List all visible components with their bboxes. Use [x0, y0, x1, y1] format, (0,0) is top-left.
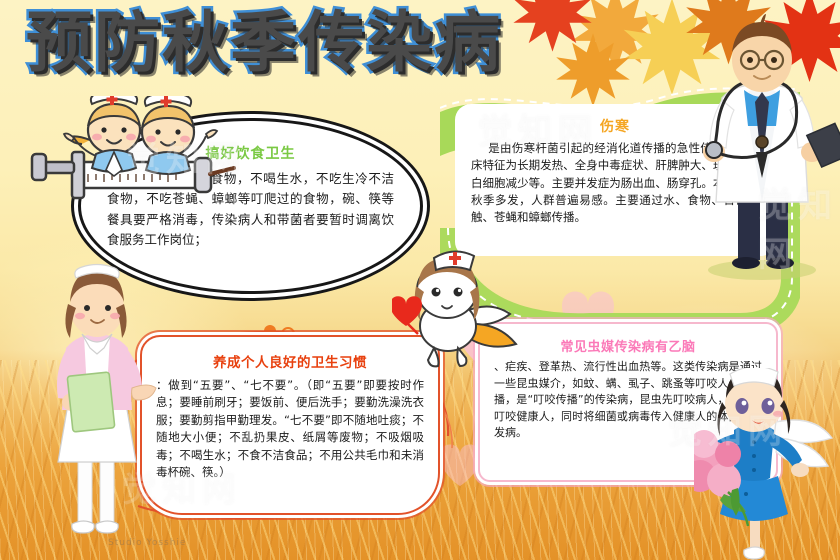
- section-title-vector-borne: 常见虫媒传染病有乙脑: [494, 336, 762, 355]
- angel-nurse-heart-illustration: [392, 250, 524, 376]
- section-title-personal-habits: 养成个人良好的卫生习惯: [156, 351, 424, 371]
- poster-canvas: 预防秋季传染病 搞好饮食卫生 不吃腐败变质食物，不喝生水，不吃生冷不洁食物，不吃…: [0, 0, 840, 560]
- poster-title-wrap: 预防秋季传染病: [26, 8, 502, 77]
- doctor-stethoscope-illustration: [682, 12, 840, 282]
- maple-leaf-icon: [548, 30, 638, 110]
- girl-flowers-wings-illustration: [694, 368, 840, 560]
- page-title: 预防秋季传染病: [26, 8, 502, 77]
- nurse-kids-syringe-illustration: [28, 96, 238, 236]
- section-body-personal-habits: ：做到“五要”、“七不要”。（即“五要”即要按时作息；要睡前刷牙；要饭前、便后洗…: [156, 377, 424, 482]
- nurse-woman-clipboard-illustration: [32, 262, 174, 554]
